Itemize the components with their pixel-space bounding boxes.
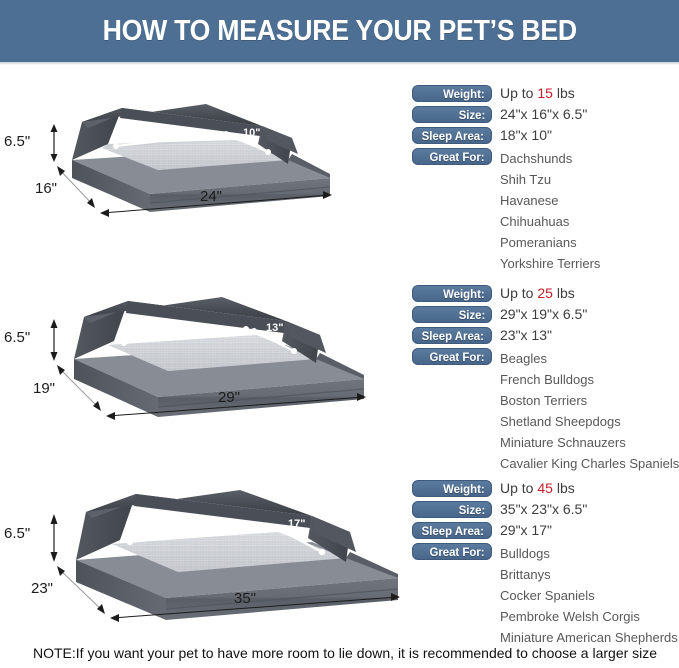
label-great-for: Great For:	[412, 148, 492, 165]
breed-item: Havanese	[500, 190, 600, 211]
bed-illustration-large: 29" 17" 6.5" 23" 35"	[26, 468, 426, 623]
weight-number: 25	[537, 285, 553, 301]
spec-row-size: Size: 24"x 16"x 6.5"	[412, 106, 679, 127]
bed-illustration-small: 18" 10" 6.5" 16" 24"	[30, 82, 350, 222]
footer-note: NOTE:If you want your pet to have more r…	[33, 645, 657, 661]
value-weight: Up to 15 lbs	[500, 85, 575, 102]
breed-item: Boston Terriers	[500, 390, 679, 411]
dim-label-width-medium: 29"	[218, 389, 240, 406]
dim-label-inner-depth-large: 17"	[288, 518, 305, 530]
breed-item: Chihuahuas	[500, 211, 600, 232]
label-weight: Weight:	[412, 480, 492, 497]
label-weight: Weight:	[412, 285, 492, 302]
dim-label-width-small: 24"	[200, 188, 222, 205]
value-size: 35"x 23"x 6.5"	[500, 501, 587, 518]
page-title: HOW TO MEASURE YOUR PET’S BED	[102, 15, 576, 48]
value-weight: Up to 25 lbs	[500, 285, 575, 302]
breed-item: Brittanys	[500, 564, 678, 585]
label-sleep-area: Sleep Area:	[412, 522, 492, 539]
dim-label-inner-width-medium: 23"	[148, 317, 165, 329]
breed-item: Cocker Spaniels	[500, 585, 678, 606]
bed-illustration-medium: 23" 13" 6.5" 19" 29"	[28, 275, 388, 425]
size-section-medium: 23" 13" 6.5" 19" 29" Weight: Up to 25 lb…	[0, 255, 679, 455]
spec-row-weight: Weight: Up to 15 lbs	[412, 85, 679, 106]
spec-row-size: Size: 29"x 19"x 6.5"	[412, 306, 679, 327]
value-sleep-area: 29"x 17"	[500, 522, 552, 539]
weight-number: 15	[537, 85, 553, 101]
spec-row-weight: Weight: Up to 25 lbs	[412, 285, 679, 306]
label-size: Size:	[412, 106, 492, 123]
spec-table-small: Weight: Up to 15 lbs Size: 24"x 16"x 6.5…	[412, 85, 679, 169]
dim-label-inner-width-small: 18"	[138, 122, 155, 134]
label-sleep-area: Sleep Area:	[412, 327, 492, 344]
spec-table-medium: Weight: Up to 25 lbs Size: 29"x 19"x 6.5…	[412, 285, 679, 369]
weight-number: 45	[537, 480, 553, 496]
dim-label-inner-depth-medium: 13"	[266, 322, 283, 334]
dim-label-width-large: 35"	[234, 590, 256, 607]
value-sleep-area: 18"x 10"	[500, 127, 552, 144]
spec-row-sleep-area: Sleep Area: 23"x 13"	[412, 327, 679, 348]
dim-label-height-small: 6.5"	[4, 133, 30, 150]
label-weight: Weight:	[412, 85, 492, 102]
page-header-banner: HOW TO MEASURE YOUR PET’S BED	[0, 0, 679, 62]
breed-item: Shetland Sheepdogs	[500, 411, 679, 432]
label-size: Size:	[412, 501, 492, 518]
breed-item: Bulldogs	[500, 543, 678, 564]
value-weight: Up to 45 lbs	[500, 480, 575, 497]
spec-row-size: Size: 35"x 23"x 6.5"	[412, 501, 679, 522]
spec-table-large: Weight: Up to 45 lbs Size: 35"x 23"x 6.5…	[412, 480, 679, 564]
value-sleep-area: 23"x 13"	[500, 327, 552, 344]
dim-label-inner-width-large: 29"	[160, 513, 177, 525]
dim-label-depth-medium: 19"	[33, 380, 55, 397]
value-size: 29"x 19"x 6.5"	[500, 306, 587, 323]
breed-item: French Bulldogs	[500, 369, 679, 390]
breed-list-large: Bulldogs Brittanys Cocker Spaniels Pembr…	[500, 543, 678, 648]
dim-label-depth-large: 23"	[31, 580, 53, 597]
spec-row-sleep-area: Sleep Area: 29"x 17"	[412, 522, 679, 543]
label-great-for: Great For:	[412, 543, 492, 560]
breed-item: Shih Tzu	[500, 169, 600, 190]
size-section-small: 18" 10" 6.5" 16" 24" Weight: Up to 15 lb…	[0, 62, 679, 257]
size-section-large: 29" 17" 6.5" 23" 35" Weight: Up to 45 lb…	[0, 448, 679, 648]
value-size: 24"x 16"x 6.5"	[500, 106, 587, 123]
breed-item: Pembroke Welsh Corgis	[500, 606, 678, 627]
dim-label-height-large: 6.5"	[4, 525, 30, 542]
spec-row-sleep-area: Sleep Area: 18"x 10"	[412, 127, 679, 148]
dim-label-inner-depth-small: 10"	[243, 127, 260, 139]
breed-item: Dachshunds	[500, 148, 600, 169]
breed-item: Beagles	[500, 348, 679, 369]
dim-label-depth-small: 16"	[35, 180, 57, 197]
label-great-for: Great For:	[412, 348, 492, 365]
label-size: Size:	[412, 306, 492, 323]
label-sleep-area: Sleep Area:	[412, 127, 492, 144]
breed-item: Pomeranians	[500, 232, 600, 253]
spec-row-weight: Weight: Up to 45 lbs	[412, 480, 679, 501]
dim-label-height-medium: 6.5"	[4, 329, 30, 346]
